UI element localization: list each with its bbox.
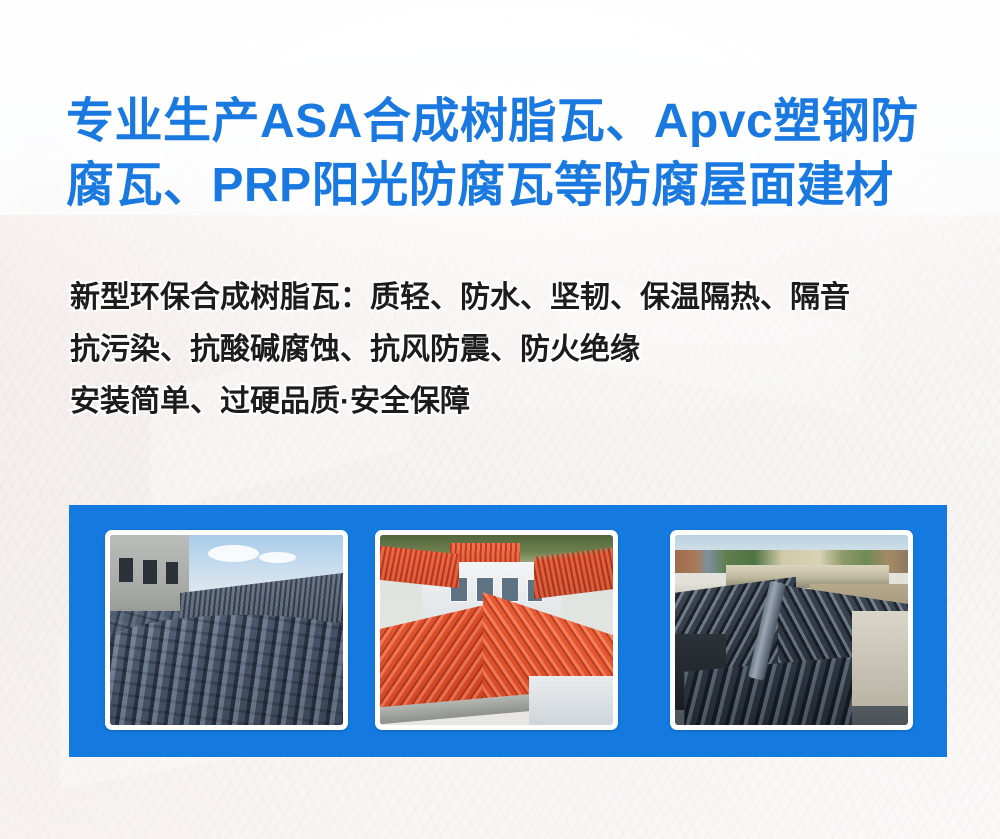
feature-text-block: 新型环保合成树脂瓦：质轻、防水、坚韧、保温隔热、隔音 抗污染、抗酸碱腐蚀、抗风防… xyxy=(70,272,960,428)
main-red-roof-left-plane xyxy=(380,603,492,709)
dark-roof-image xyxy=(675,535,908,725)
foreground-tile-roof xyxy=(110,615,343,725)
product-gallery-panel xyxy=(69,505,947,757)
red-roof-image xyxy=(380,535,613,725)
distant-red-roof xyxy=(380,546,459,589)
product-photo-red-resin-tile-roof[interactable] xyxy=(375,530,618,730)
grey-roof-image xyxy=(110,535,343,725)
page-title: 专业生产ASA合成树脂瓦、Apvc塑钢防 腐瓦、PRP阳光防腐瓦等防腐屋面建材 xyxy=(66,90,946,218)
building-window xyxy=(166,562,178,585)
distant-red-roof xyxy=(534,547,613,599)
product-photo-grey-resin-tile-roof[interactable] xyxy=(105,530,348,730)
photo-frame xyxy=(110,535,343,725)
photo-frame xyxy=(675,535,908,725)
feature-line-2: 抗污染、抗酸碱腐蚀、抗风防震、防火绝缘 xyxy=(70,324,960,376)
building-window xyxy=(501,577,519,602)
feature-line-1: 新型环保合成树脂瓦：质轻、防水、坚韧、保温隔热、隔音 xyxy=(70,272,960,324)
building-window xyxy=(143,560,157,585)
poster-page: 专业生产ASA合成树脂瓦、Apvc塑钢防 腐瓦、PRP阳光防腐瓦等防腐屋面建材 … xyxy=(0,0,1000,839)
cloud-shape xyxy=(208,545,259,562)
feature-line-3: 安装简单、过硬品质·安全保障 xyxy=(70,376,960,428)
building-window xyxy=(119,558,133,583)
white-wall xyxy=(852,611,908,706)
lower-building xyxy=(529,676,613,725)
product-photo-dark-resin-tile-roof[interactable] xyxy=(670,530,913,730)
photo-frame xyxy=(380,535,613,725)
